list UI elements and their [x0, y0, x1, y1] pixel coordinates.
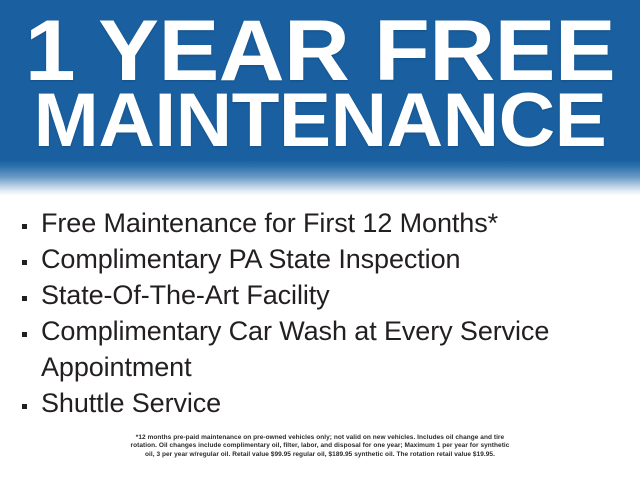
disclaimer-line: rotation. Oil changes include compliment… [40, 442, 600, 450]
headline-banner: 1 YEAR FREE MAINTENANCE [0, 0, 640, 196]
square-bullet-icon [22, 404, 27, 409]
square-bullet-icon [22, 332, 27, 337]
list-item: Shuttle Service [22, 386, 622, 422]
list-item: Free Maintenance for First 12 Months* [22, 206, 622, 242]
list-item-label: Shuttle Service [41, 386, 622, 422]
list-item: State-Of-The-Art Facility [22, 278, 622, 314]
list-item-label: Complimentary PA State Inspection [41, 242, 622, 278]
disclaimer-fine-print: *12 months pre-paid maintenance on pre-o… [40, 434, 600, 459]
list-item: Complimentary Car Wash at Every Service … [22, 314, 622, 386]
service-offer-advertisement: 1 YEAR FREE MAINTENANCE Free Maintenance… [0, 0, 640, 480]
square-bullet-icon [22, 224, 27, 229]
square-bullet-icon [22, 260, 27, 265]
list-item-label: State-Of-The-Art Facility [41, 278, 622, 314]
banner-gradient-fade [0, 160, 640, 196]
headline-block: 1 YEAR FREE MAINTENANCE [0, 0, 640, 157]
list-item: Complimentary PA State Inspection [22, 242, 622, 278]
offer-bullet-list: Free Maintenance for First 12 Months* Co… [22, 206, 622, 421]
disclaimer-line: oil, 3 per year w/regular oil. Retail va… [40, 451, 600, 459]
disclaimer-line: *12 months pre-paid maintenance on pre-o… [40, 434, 600, 442]
headline-line-secondary: MAINTENANCE [0, 86, 640, 157]
list-item-label: Complimentary Car Wash at Every Service … [41, 314, 622, 386]
square-bullet-icon [22, 296, 27, 301]
list-item-label: Free Maintenance for First 12 Months* [41, 206, 622, 242]
